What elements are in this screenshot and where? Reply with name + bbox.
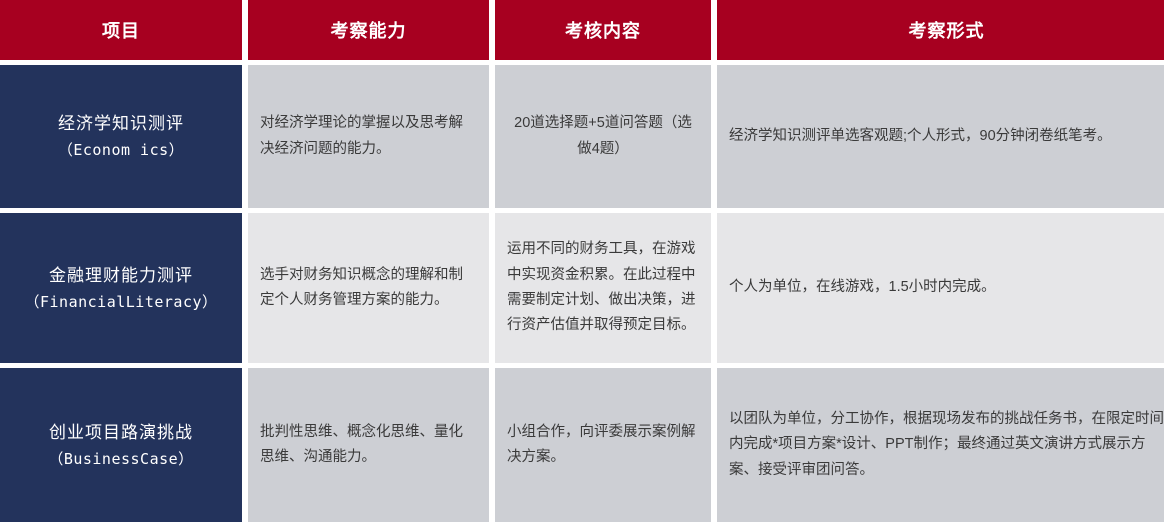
header-label-project: 项目 bbox=[102, 17, 140, 43]
project-name-cn: 创业项目路演挑战 bbox=[49, 419, 193, 447]
content-text: 20道选择题+5道问答题（选做4题） bbox=[507, 111, 699, 162]
project-name-cn: 经济学知识测评 bbox=[58, 110, 184, 138]
format-text: 经济学知识测评单选客观题;个人形式，90分钟闭卷纸笔考。 bbox=[729, 124, 1112, 149]
table-header-format: 考察形式 bbox=[717, 0, 1164, 60]
format-cell: 以团队为单位，分工协作，根据现场发布的挑战任务书，在限定时间内完成*项目方案*设… bbox=[717, 368, 1164, 522]
table-row: 经济学知识测评 （Econom ics） bbox=[0, 65, 242, 208]
content-text: 运用不同的财务工具，在游戏中实现资金积累。在此过程中需要制定计划、做出决策，进行… bbox=[507, 237, 699, 339]
table-header-content: 考核内容 bbox=[495, 0, 711, 60]
format-cell: 个人为单位，在线游戏，1.5小时内完成。 bbox=[717, 213, 1164, 363]
ability-text: 对经济学理论的掌握以及思考解决经济问题的能力。 bbox=[260, 111, 477, 162]
ability-cell: 选手对财务知识概念的理解和制定个人财务管理方案的能力。 bbox=[248, 213, 489, 363]
table-header-project: 项目 bbox=[0, 0, 242, 60]
content-text: 小组合作，向评委展示案例解决方案。 bbox=[507, 420, 699, 471]
ability-cell: 对经济学理论的掌握以及思考解决经济问题的能力。 bbox=[248, 65, 489, 208]
ability-text: 批判性思维、概念化思维、量化思维、沟通能力。 bbox=[260, 420, 477, 471]
format-cell: 经济学知识测评单选客观题;个人形式，90分钟闭卷纸笔考。 bbox=[717, 65, 1164, 208]
table-header-ability: 考察能力 bbox=[248, 0, 489, 60]
assessment-table: 项目 考察能力 考核内容 考察形式 经济学知识测评 （Econom ics） 对… bbox=[0, 0, 1164, 512]
table-row: 创业项目路演挑战 （BusinessCase） bbox=[0, 368, 242, 522]
table-grid: 项目 考察能力 考核内容 考察形式 经济学知识测评 （Econom ics） 对… bbox=[0, 0, 1164, 512]
project-name-cn: 金融理财能力测评 bbox=[49, 262, 193, 290]
header-label-format: 考察形式 bbox=[909, 17, 985, 43]
table-row: 金融理财能力测评 （FinancialLiteracy） bbox=[0, 213, 242, 363]
content-cell: 20道选择题+5道问答题（选做4题） bbox=[495, 65, 711, 208]
ability-text: 选手对财务知识概念的理解和制定个人财务管理方案的能力。 bbox=[260, 263, 477, 314]
header-label-ability: 考察能力 bbox=[331, 17, 407, 43]
header-label-content: 考核内容 bbox=[565, 17, 641, 43]
ability-cell: 批判性思维、概念化思维、量化思维、沟通能力。 bbox=[248, 368, 489, 522]
project-name-en: （Econom ics） bbox=[58, 138, 184, 163]
content-cell: 运用不同的财务工具，在游戏中实现资金积累。在此过程中需要制定计划、做出决策，进行… bbox=[495, 213, 711, 363]
project-name-en: （BusinessCase） bbox=[48, 447, 193, 472]
project-name-en: （FinancialLiteracy） bbox=[24, 290, 217, 315]
format-text: 个人为单位，在线游戏，1.5小时内完成。 bbox=[729, 275, 996, 300]
format-text: 以团队为单位，分工协作，根据现场发布的挑战任务书，在限定时间内完成*项目方案*设… bbox=[729, 407, 1164, 483]
content-cell: 小组合作，向评委展示案例解决方案。 bbox=[495, 368, 711, 522]
